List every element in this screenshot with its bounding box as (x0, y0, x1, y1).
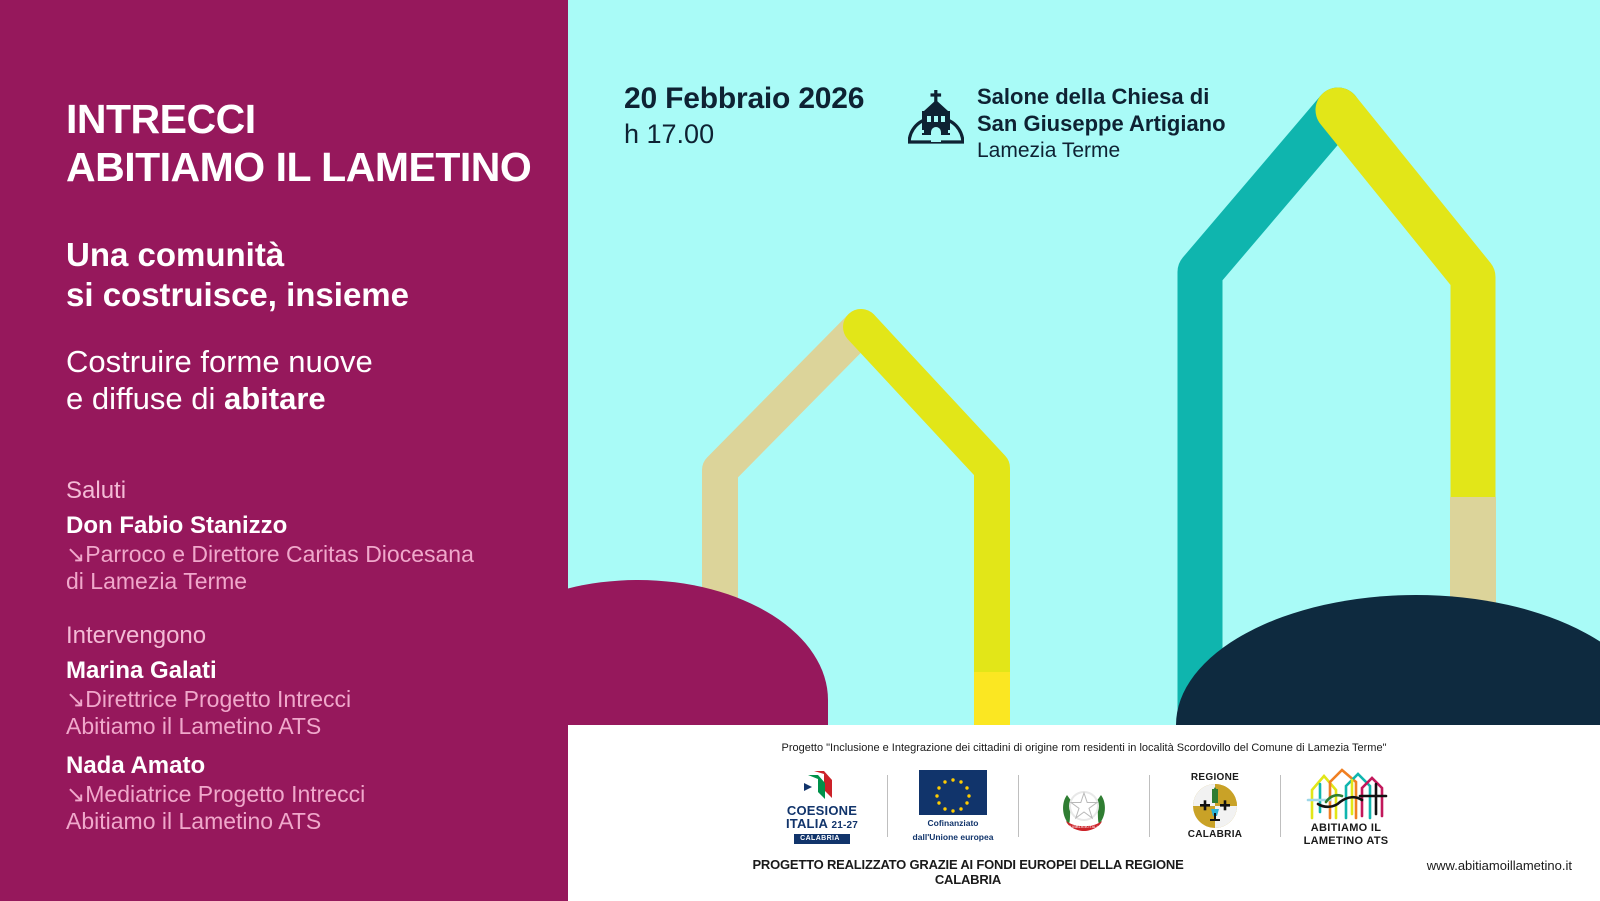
speaker-role: ↘Mediatrice Progetto Intrecci Abitiamo i… (66, 781, 546, 835)
subtitle-light: Costruire forme nuove e diffuse di abita… (66, 343, 536, 417)
venue-city: Lamezia Terme (977, 138, 1226, 164)
eu-flag-logo: Cofinanziato dall'Unione europea (888, 763, 1018, 849)
left-info-panel: INTRECCI ABITIAMO IL LAMETINO Una comuni… (0, 0, 568, 901)
title-line-2: ABITIAMO IL LAMETINO (66, 143, 536, 191)
ats-brand-mark-icon (1300, 764, 1392, 822)
regione-calabria-shield-icon (1192, 783, 1238, 829)
speaker-role: ↘Direttrice Progetto Intrecci Abitiamo i… (66, 686, 546, 740)
svg-text:REPUBBLICA ITALIANA: REPUBBLICA ITALIANA (1062, 824, 1106, 829)
subtitle-bold: Una comunità si costruisce, insieme (66, 235, 536, 316)
speaker-group-intervengono: Intervengono Marina Galati ↘Direttrice P… (66, 621, 546, 835)
italian-republic-emblem-icon: REPUBBLICA ITALIANA (1053, 775, 1115, 837)
small-house-right-foot (974, 672, 1010, 725)
speaker-item: Nada Amato ↘Mediatrice Progetto Intrecci… (66, 750, 546, 835)
ats-label-line-2: LAMETINO ATS (1304, 835, 1389, 848)
speakers-list: Saluti Don Fabio Stanizzo ↘Parroco e Dir… (66, 476, 546, 861)
speaker-name: Don Fabio Stanizzo (66, 510, 546, 541)
eu-caption-line-2: dall'Unione europea (913, 832, 994, 843)
venue-line-2: San Giuseppe Artigiano (977, 111, 1226, 138)
subtitle-light-line-2: e diffuse di abitare (66, 380, 536, 417)
ats-label-line-1: ABITIAMO IL (1311, 822, 1382, 835)
coesione-region-badge: CALABRIA (794, 834, 850, 844)
regione-label-bottom: CALABRIA (1188, 829, 1243, 840)
subtitle-light-plain: e diffuse di (66, 381, 224, 416)
page-title: INTRECCI ABITIAMO IL LAMETINO (66, 95, 536, 192)
venue-text: Salone della Chiesa di San Giuseppe Arti… (977, 84, 1226, 164)
footer-slogan: PROGETTO REALIZZATO GRAZIE AI FONDI EURO… (718, 857, 1218, 887)
coesione-italia-logo: COESIONE ITALIA 21-27 CALABRIA (757, 763, 887, 849)
church-icon (908, 90, 964, 150)
footer-logo-row: COESIONE ITALIA 21-27 CALABRIA (568, 763, 1600, 849)
speaker-item: Marina Galati ↘Direttrice Progetto Intre… (66, 655, 546, 740)
poster-artwork-area: 20 Febbraio 2026 h 17.00 (568, 0, 1600, 725)
coesione-years: 21-27 (831, 820, 858, 831)
footer-project-text: Progetto "Inclusione e Integrazione dei … (568, 741, 1600, 755)
subtitle-light-line-1: Costruire forme nuove (66, 343, 536, 380)
venue-line-1: Salone della Chiesa di (977, 84, 1226, 111)
speaker-item: Don Fabio Stanizzo ↘Parroco e Direttore … (66, 510, 546, 595)
european-union-flag-icon (919, 770, 987, 815)
repubblica-italiana-emblem: REPUBBLICA ITALIANA (1019, 763, 1149, 849)
speaker-name: Nada Amato (66, 750, 546, 781)
event-venue-block: Salone della Chiesa di San Giuseppe Arti… (908, 84, 1226, 164)
coesione-label-line-2: ITALIA (786, 816, 828, 831)
speaker-group-heading: Intervengono (66, 621, 546, 651)
abitiamo-il-lametino-ats-logo: ABITIAMO IL LAMETINO ATS (1281, 763, 1411, 849)
subtitle-light-bold: abitare (224, 381, 326, 416)
eu-caption-line-1: Cofinanziato (928, 818, 979, 829)
subtitle-bold-line-1: Una comunità (66, 235, 536, 275)
speaker-role: ↘Parroco e Direttore Caritas Diocesana d… (66, 541, 546, 595)
title-line-1: INTRECCI (66, 95, 536, 143)
speaker-group-heading: Saluti (66, 476, 546, 506)
coesione-mark-icon (800, 768, 844, 802)
event-time: h 17.00 (624, 118, 864, 150)
subtitle-bold-line-2: si costruisce, insieme (66, 275, 536, 315)
event-poster: INTRECCI ABITIAMO IL LAMETINO Una comuni… (0, 0, 1600, 901)
regione-calabria-logo: REGIONE CALABR (1150, 763, 1280, 849)
regione-label-top: REGIONE (1191, 772, 1239, 783)
footer-bottom-row: PROGETTO REALIZZATO GRAZIE AI FONDI EURO… (568, 857, 1600, 891)
speaker-name: Marina Galati (66, 655, 546, 686)
event-date-block: 20 Febbraio 2026 h 17.00 (624, 82, 864, 150)
footer-website-url[interactable]: www.abitiamoillametino.it (1427, 858, 1572, 873)
footer-bar: Progetto "Inclusione e Integrazione dei … (568, 725, 1600, 901)
speaker-group-saluti: Saluti Don Fabio Stanizzo ↘Parroco e Dir… (66, 476, 546, 595)
event-date: 20 Febbraio 2026 (624, 82, 864, 116)
